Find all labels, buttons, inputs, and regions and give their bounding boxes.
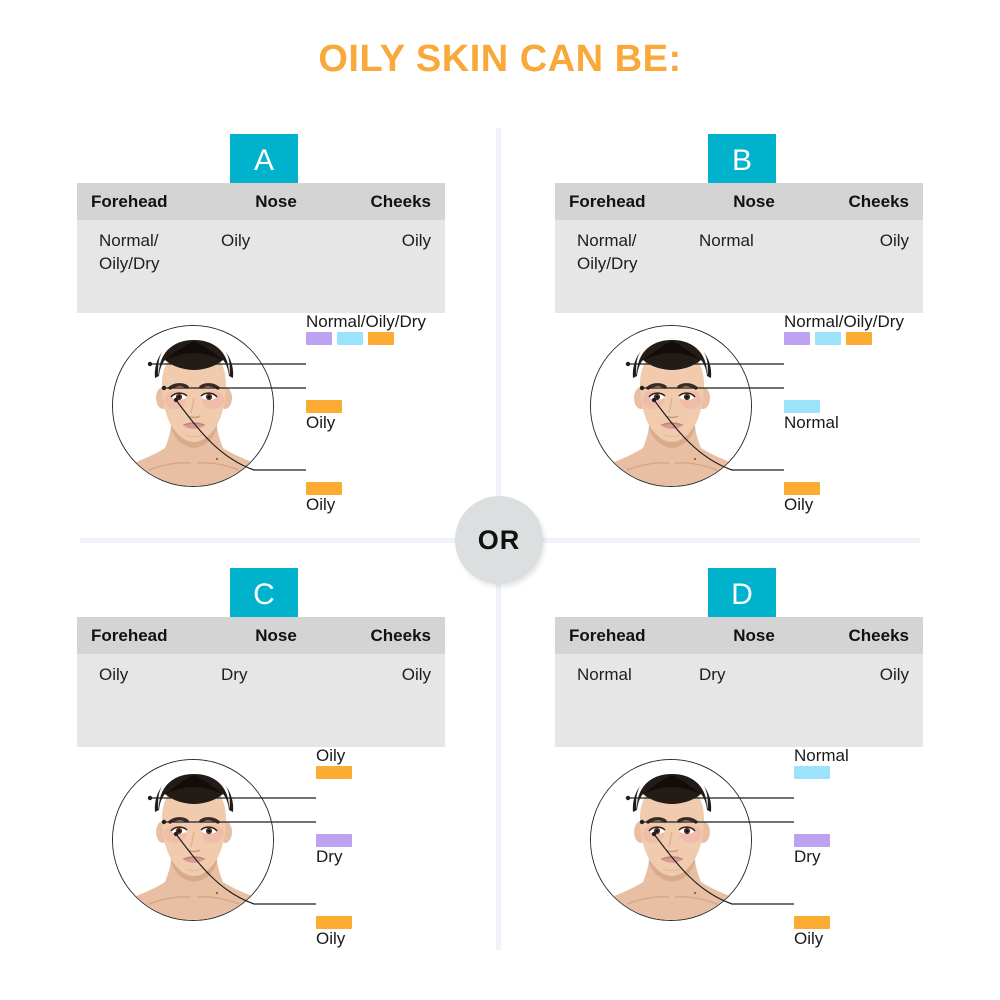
table-header-forehead: Forehead — [77, 192, 221, 212]
swatch-oily — [316, 766, 352, 779]
legend-swatches-cheeks — [306, 482, 342, 495]
letter-badge-label: A — [254, 144, 274, 178]
face-photo — [591, 760, 752, 921]
panel-c: CForeheadNoseCheeksOilyDryOilyOilyDryOil… — [40, 556, 500, 996]
legend-item-cheeks: Oily — [794, 916, 830, 949]
legend-item-nose: Dry — [316, 834, 352, 867]
legend-swatches-forehead — [794, 766, 849, 779]
swatch-normal — [784, 400, 820, 413]
table-cell-line: Normal/ — [577, 230, 699, 253]
face-diagram-a — [112, 325, 274, 487]
legend-label-nose: Dry — [316, 847, 352, 867]
legend-label-nose: Oily — [306, 413, 342, 433]
legend-item-forehead: Normal — [794, 746, 849, 779]
legend-label-forehead: Normal — [794, 746, 849, 766]
zone-table-c: ForeheadNoseCheeksOilyDryOily — [77, 617, 445, 747]
table-cell-line: Oily — [331, 664, 431, 687]
face-circle — [590, 325, 752, 487]
zone-table-a: ForeheadNoseCheeksNormal/Oily/DryOilyOil… — [77, 183, 445, 313]
face-photo — [591, 326, 752, 487]
zone-table-b: ForeheadNoseCheeksNormal/Oily/DryNormalO… — [555, 183, 923, 313]
legend-swatches-nose — [316, 834, 352, 847]
letter-badge-a: A — [230, 134, 298, 187]
face-diagram-d — [590, 759, 752, 921]
letter-badge-d: D — [708, 568, 776, 621]
face-photo — [113, 326, 274, 487]
legend-swatches-cheeks — [784, 482, 820, 495]
table-cell-forehead: Oily — [77, 664, 221, 747]
table-header-row: ForeheadNoseCheeks — [555, 183, 923, 220]
letter-badge-c: C — [230, 568, 298, 621]
table-cell-cheeks: Oily — [809, 230, 923, 313]
swatch-dry — [306, 332, 332, 345]
table-cell-nose: Oily — [221, 230, 331, 313]
legend-swatches-cheeks — [794, 916, 830, 929]
page-title: OILY SKIN CAN BE: — [0, 38, 1000, 81]
swatch-oily — [846, 332, 872, 345]
table-header-nose: Nose — [699, 192, 809, 212]
legend-item-forehead: Oily — [316, 746, 352, 779]
legend-swatches-nose — [794, 834, 830, 847]
table-cell-line: Oily — [809, 230, 909, 253]
panel-b: BForeheadNoseCheeksNormal/Oily/DryNormal… — [518, 122, 978, 562]
face-diagram-c — [112, 759, 274, 921]
legend-label-cheeks: Oily — [316, 929, 352, 949]
table-row: NormalDryOily — [555, 654, 923, 747]
table-header-row: ForeheadNoseCheeks — [77, 617, 445, 654]
swatch-oily — [306, 482, 342, 495]
swatch-normal — [794, 766, 830, 779]
legend-item-cheeks: Oily — [316, 916, 352, 949]
letter-badge-label: C — [253, 578, 275, 612]
table-cell-line: Dry — [221, 664, 331, 687]
legend-swatches-forehead — [316, 766, 352, 779]
swatch-dry — [784, 332, 810, 345]
swatch-normal — [815, 332, 841, 345]
table-header-cheeks: Cheeks — [331, 626, 445, 646]
legend-label-forehead: Normal/Oily/Dry — [784, 312, 904, 332]
table-header-cheeks: Cheeks — [809, 192, 923, 212]
swatch-dry — [316, 834, 352, 847]
table-cell-line: Oily/Dry — [577, 253, 699, 276]
swatch-oily — [368, 332, 394, 345]
table-header-row: ForeheadNoseCheeks — [77, 183, 445, 220]
table-header-cheeks: Cheeks — [331, 192, 445, 212]
table-header-forehead: Forehead — [555, 192, 699, 212]
zone-table-d: ForeheadNoseCheeksNormalDryOily — [555, 617, 923, 747]
table-cell-nose: Dry — [221, 664, 331, 747]
legend-item-cheeks: Oily — [784, 482, 820, 515]
legend-label-nose: Dry — [794, 847, 830, 867]
swatch-normal — [337, 332, 363, 345]
table-cell-line: Oily — [809, 664, 909, 687]
letter-badge-label: B — [732, 144, 752, 178]
table-cell-line: Normal — [699, 230, 809, 253]
panel-d: DForeheadNoseCheeksNormalDryOilyNormalDr… — [518, 556, 978, 996]
table-header-cheeks: Cheeks — [809, 626, 923, 646]
table-cell-nose: Dry — [699, 664, 809, 747]
table-cell-line: Oily — [331, 230, 431, 253]
legend-label-cheeks: Oily — [794, 929, 830, 949]
table-header-nose: Nose — [221, 192, 331, 212]
legend-label-forehead: Oily — [316, 746, 352, 766]
table-header-nose: Nose — [699, 626, 809, 646]
legend-item-cheeks: Oily — [306, 482, 342, 515]
face-circle — [112, 759, 274, 921]
legend-swatches-nose — [784, 400, 839, 413]
table-cell-line: Dry — [699, 664, 809, 687]
table-cell-forehead: Normal/Oily/Dry — [555, 230, 699, 313]
legend-label-nose: Normal — [784, 413, 839, 433]
legend-item-forehead: Normal/Oily/Dry — [306, 312, 426, 345]
table-header-row: ForeheadNoseCheeks — [555, 617, 923, 654]
face-diagram-b — [590, 325, 752, 487]
swatch-dry — [794, 834, 830, 847]
legend-swatches-cheeks — [316, 916, 352, 929]
table-cell-forehead: Normal/Oily/Dry — [77, 230, 221, 313]
legend-item-nose: Oily — [306, 400, 342, 433]
face-circle — [590, 759, 752, 921]
legend-label-forehead: Normal/Oily/Dry — [306, 312, 426, 332]
legend-swatches-forehead — [784, 332, 904, 345]
legend-swatches-nose — [306, 400, 342, 413]
table-cell-line: Oily/Dry — [99, 253, 221, 276]
table-cell-forehead: Normal — [555, 664, 699, 747]
legend-label-cheeks: Oily — [784, 495, 820, 515]
legend-item-nose: Normal — [784, 400, 839, 433]
swatch-oily — [784, 482, 820, 495]
table-row: OilyDryOily — [77, 654, 445, 747]
table-cell-line: Normal/ — [99, 230, 221, 253]
table-cell-cheeks: Oily — [331, 230, 445, 313]
swatch-oily — [316, 916, 352, 929]
table-cell-cheeks: Oily — [809, 664, 923, 747]
legend-label-cheeks: Oily — [306, 495, 342, 515]
swatch-oily — [306, 400, 342, 413]
swatch-oily — [794, 916, 830, 929]
face-photo — [113, 760, 274, 921]
legend-item-nose: Dry — [794, 834, 830, 867]
table-row: Normal/Oily/DryNormalOily — [555, 220, 923, 313]
table-cell-line: Oily — [221, 230, 331, 253]
table-row: Normal/Oily/DryOilyOily — [77, 220, 445, 313]
table-header-forehead: Forehead — [555, 626, 699, 646]
table-header-nose: Nose — [221, 626, 331, 646]
table-header-forehead: Forehead — [77, 626, 221, 646]
letter-badge-label: D — [731, 578, 753, 612]
panel-a: AForeheadNoseCheeksNormal/Oily/DryOilyOi… — [40, 122, 500, 562]
table-cell-line: Normal — [577, 664, 699, 687]
letter-badge-b: B — [708, 134, 776, 187]
legend-item-forehead: Normal/Oily/Dry — [784, 312, 904, 345]
table-cell-nose: Normal — [699, 230, 809, 313]
face-circle — [112, 325, 274, 487]
legend-swatches-forehead — [306, 332, 426, 345]
table-cell-line: Oily — [99, 664, 221, 687]
table-cell-cheeks: Oily — [331, 664, 445, 747]
